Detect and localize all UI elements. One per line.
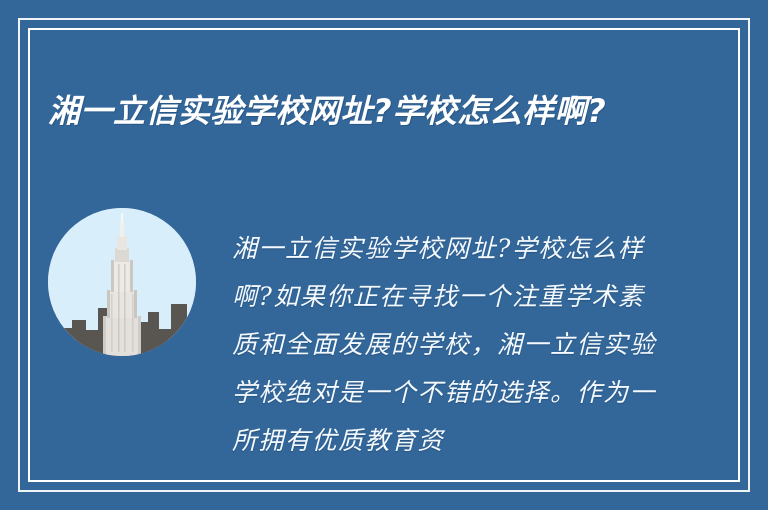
article-card: 湘一立信实验学校网址?学校怎么样啊?: [0, 0, 768, 510]
article-content: 湘一立信实验学校网址?学校怎么样啊?如果你正在寻找一个注重学术素质和全面发展的学…: [48, 200, 720, 490]
page-title: 湘一立信实验学校网址?学校怎么样啊?: [48, 85, 688, 137]
article-body: 湘一立信实验学校网址?学校怎么样啊?如果你正在寻找一个注重学术素质和全面发展的学…: [232, 225, 660, 465]
article-thumbnail: [48, 208, 196, 356]
skyscraper-icon: [48, 208, 196, 356]
